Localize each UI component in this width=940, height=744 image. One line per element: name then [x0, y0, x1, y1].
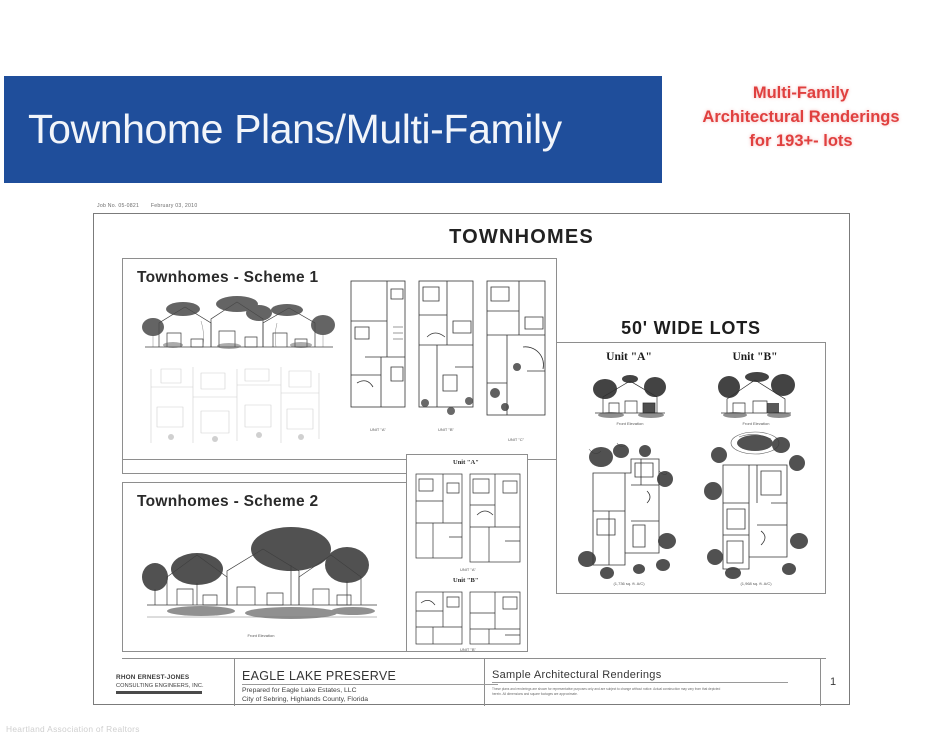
- project-name: EAGLE LAKE PRESERVE: [242, 669, 498, 685]
- lots-unit-b-elevation: [717, 369, 795, 419]
- midcolumn-plan-unit-a-right: [467, 471, 523, 567]
- midcolumn-unit-b-label: Unit "B": [453, 577, 478, 584]
- lots-heading: 50' WIDE LOTS: [556, 318, 826, 339]
- firm-name: RHON ERNEST-JONES: [116, 674, 204, 683]
- sheet-page-number: 1: [830, 676, 836, 688]
- project-location: City of Sebring, Highlands County, Flori…: [242, 696, 498, 703]
- firm-rule: [116, 691, 202, 694]
- firm-subtitle: CONSULTING ENGINEERS, INC.: [116, 683, 204, 691]
- scheme-1-elevation-rendering: [137, 293, 337, 355]
- scheme-1-plan-unit-b: [415, 275, 477, 425]
- midcolumn-plan-unit-b-left: [413, 589, 465, 647]
- lots-unit-b-floorplan: [699, 429, 813, 581]
- scheme-2-elevation-rendering: [141, 521, 381, 631]
- titleblock-divider: [122, 658, 826, 659]
- titleblock-project: EAGLE LAKE PRESERVE Prepared for Eagle L…: [242, 669, 498, 703]
- scheme-2-elevation-caption: Front Elevation: [141, 633, 381, 638]
- scheme-1-site-plan: [141, 363, 331, 449]
- lots-unit-a-elevation-caption: Front Elevation: [591, 421, 669, 426]
- titleblock-sheetname: Sample Architectural Renderings These pl…: [492, 669, 788, 697]
- architectural-drawing-sheet: TOWNHOMES Townhomes - Scheme 1: [93, 213, 850, 705]
- slide-canvas: Townhome Plans/Multi-Family Multi-Family…: [0, 0, 940, 744]
- scheme-1-plan-unit-a: [347, 275, 409, 425]
- titleblock-vline-1: [234, 658, 235, 706]
- lots-unit-a-floorplan: [573, 433, 685, 581]
- project-prepared-for: Prepared for Eagle Lake Estates, LLC: [242, 687, 498, 694]
- sheet-job-number: Job No. 05-0821: [97, 203, 139, 209]
- sheet-name-text: Sample Architectural Renderings: [492, 669, 788, 683]
- sheet-jobno-strip: Job No. 05-0821 February 03, 2010: [97, 203, 207, 209]
- scheme-1-caption-unit-c: UNIT "C": [483, 437, 549, 442]
- lots-unit-a-plan-dimension: (1,736 sq. ft. A/C): [573, 581, 685, 586]
- titleblock-vline-3: [820, 658, 821, 706]
- callout-line-3: for 193+- lots: [666, 130, 936, 154]
- lots-unit-a-label: Unit "A": [581, 351, 677, 363]
- midcolumn-unit-a-caption: UNIT "A": [413, 567, 523, 572]
- midcolumn-unit-b-caption: UNIT "B": [413, 647, 523, 652]
- lots-unit-b-elevation-caption: Front Elevation: [717, 421, 795, 426]
- lots-unit-b-label: Unit "B": [707, 351, 803, 363]
- scheme-2-label: Townhomes - Scheme 2: [137, 493, 318, 511]
- watermark-credit: Heartland Association of Realtors: [6, 724, 140, 734]
- panel-scheme-2: Townhomes - Scheme 2: [122, 482, 432, 652]
- scheme-1-plan-unit-c: [483, 275, 549, 435]
- slide-title: Townhome Plans/Multi-Family: [4, 106, 562, 153]
- sheet-main-title: TOWNHOMES: [94, 226, 849, 249]
- callout-line-1: Multi-Family: [666, 82, 936, 106]
- midcolumn-plan-unit-a-left: [413, 471, 465, 563]
- callout-annotation: Multi-Family Architectural Renderings fo…: [666, 82, 936, 154]
- scheme-1-caption-unit-b: UNIT "B": [415, 427, 477, 432]
- sheet-disclaimer: These plans and renderings are shown for…: [492, 687, 722, 697]
- scheme-1-caption-unit-a: UNIT "A": [347, 427, 409, 432]
- slide-title-banner: Townhome Plans/Multi-Family: [4, 76, 662, 183]
- midcolumn-unit-a-label: Unit "A": [453, 459, 479, 466]
- sheet-date: February 03, 2010: [151, 203, 198, 209]
- panel-scheme-1: Townhomes - Scheme 1: [122, 258, 557, 460]
- callout-line-2: Architectural Renderings: [666, 106, 936, 130]
- panel-scheme-1-notch: [122, 460, 407, 474]
- lots-unit-b-plan-dimension: (1,968 sq. ft. A/C): [699, 581, 813, 586]
- panel-mid-column-units: Unit "A": [406, 454, 528, 652]
- lots-unit-a-elevation: [591, 369, 669, 419]
- scheme-1-label: Townhomes - Scheme 1: [137, 269, 318, 287]
- titleblock-firm: RHON ERNEST-JONES CONSULTING ENGINEERS, …: [116, 674, 204, 694]
- midcolumn-plan-unit-b-right: [467, 589, 523, 647]
- panel-50ft-wide-lots: Unit "A" Unit "B": [556, 342, 826, 594]
